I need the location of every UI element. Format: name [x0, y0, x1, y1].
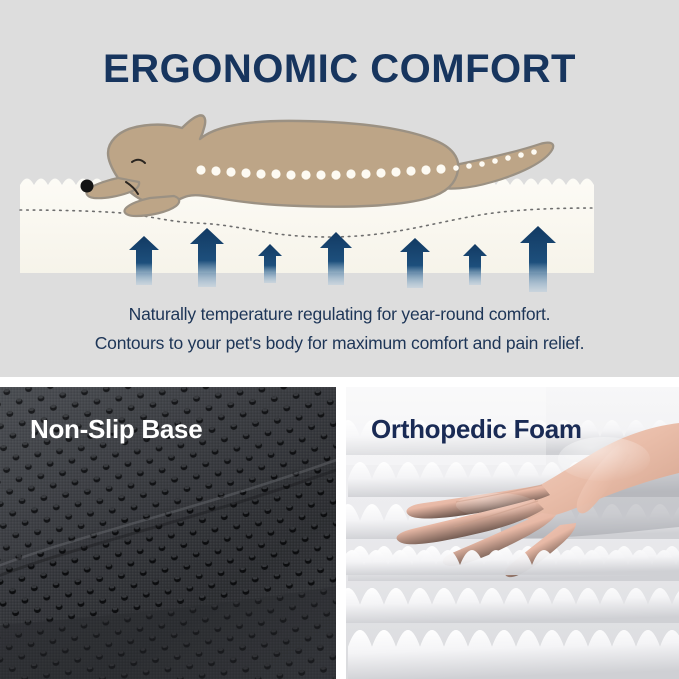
- dog-body: [108, 115, 458, 206]
- dog-nose: [81, 180, 94, 193]
- caption-line-1: Naturally temperature regulating for yea…: [0, 304, 679, 325]
- orthopedic-foam-panel: Orthopedic Foam: [346, 387, 679, 679]
- ergonomic-comfort-panel: ERGONOMIC COMFORT: [0, 0, 679, 377]
- vertical-divider: [336, 387, 346, 679]
- non-slip-base-label: Non-Slip Base: [30, 414, 202, 445]
- dog-on-mattress-illustration: [0, 110, 679, 310]
- page-title: ERGONOMIC COMFORT: [0, 47, 679, 92]
- foreground-foam-bumps: [346, 550, 679, 679]
- caption-line-2: Contours to your pet's body for maximum …: [0, 333, 679, 354]
- product-infographic: ERGONOMIC COMFORT: [0, 0, 679, 679]
- non-slip-base-panel: Non-Slip Base: [0, 387, 336, 679]
- orthopedic-foam-label: Orthopedic Foam: [371, 414, 582, 445]
- horizontal-divider: [0, 377, 679, 387]
